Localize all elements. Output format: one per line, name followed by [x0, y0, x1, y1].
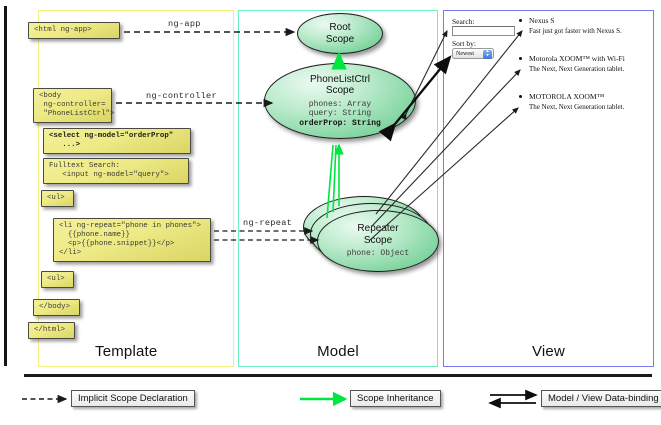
view-sort-select[interactable]: Newest ▲▼	[452, 48, 494, 59]
ng-repeat-label: ng-repeat	[243, 218, 292, 228]
legend-implicit-scope-declaration: Implicit Scope Declaration	[71, 390, 195, 407]
panel-model-label: Model	[239, 343, 437, 360]
bullet-icon	[519, 95, 522, 98]
repeater-scope-title: Repeater Scope	[357, 223, 398, 246]
template-input-tag-box: Fulltext Search: <input ng-model="query"…	[43, 158, 189, 184]
template-body-close-box: </body>	[33, 299, 80, 316]
view-phone-name: MOTOROLA XOOM™	[529, 92, 604, 101]
ng-app-label: ng-app	[168, 19, 201, 29]
root-scope-title: Root Scope	[326, 22, 354, 45]
bullet-icon	[519, 19, 522, 22]
template-li-repeat-box: <li ng-repeat="phone in phones"> {{phone…	[53, 218, 211, 262]
view-sort-label: Sort by:	[452, 39, 476, 48]
view-sort-select-value: Newest	[456, 51, 474, 57]
view-phone-snippet: The Next, Next Generation tablet.	[529, 103, 624, 111]
phonelistctrl-scope-title: PhoneListCtrl Scope	[310, 74, 370, 97]
legend-scope-inheritance: Scope Inheritance	[350, 390, 441, 407]
ng-controller-label: ng-controller	[146, 91, 217, 101]
view-phone-name: Nexus S	[529, 16, 555, 25]
chevron-updown-icon: ▲▼	[483, 50, 492, 59]
template-select-tag-box: <select ng-model="orderProp" ...>	[43, 128, 191, 154]
template-html-close-box: </html>	[28, 322, 75, 339]
template-ul-open-box: <ul>	[41, 190, 74, 207]
repeater-scope-props: phone: Object	[347, 249, 409, 259]
phonelistctrl-scope-props: phones: Array query: String orderProp: S…	[299, 100, 381, 129]
view-search-label: Search:	[452, 17, 475, 26]
legend-divider	[24, 374, 652, 377]
template-ul-close-box: <ul>	[41, 271, 74, 288]
template-html-tag-box: <html ng-app>	[28, 22, 120, 39]
view-phone-name: Motorola XOOM™ with Wi-Fi	[529, 54, 625, 63]
left-edge-bar	[4, 6, 7, 366]
template-body-tag-box: <body ng-controller= "PhoneListCtrl">	[33, 88, 112, 123]
root-scope-ellipse: Root Scope	[297, 13, 383, 54]
bullet-icon	[519, 57, 522, 60]
repeater-scope-ellipse: Repeater Scope phone: Object	[317, 210, 439, 272]
phonelistctrl-scope-props-plain: phones: Array query: String	[309, 100, 371, 119]
phonelistctrl-scope-ellipse: PhoneListCtrl Scope phones: Array query:…	[264, 63, 416, 139]
view-phone-snippet: Fast just got faster with Nexus S.	[529, 27, 622, 35]
panel-view: View	[443, 10, 654, 367]
phonelistctrl-scope-props-bold: orderProp: String	[299, 119, 381, 128]
panel-view-label: View	[444, 343, 653, 360]
legend-model-view-data-binding: Model / View Data-binding	[541, 390, 661, 407]
view-phone-snippet: The Next, Next Generation tablet.	[529, 65, 624, 73]
diagram-canvas: Template <html ng-app> <body ng-controll…	[0, 0, 661, 425]
view-search-input[interactable]	[452, 26, 515, 36]
